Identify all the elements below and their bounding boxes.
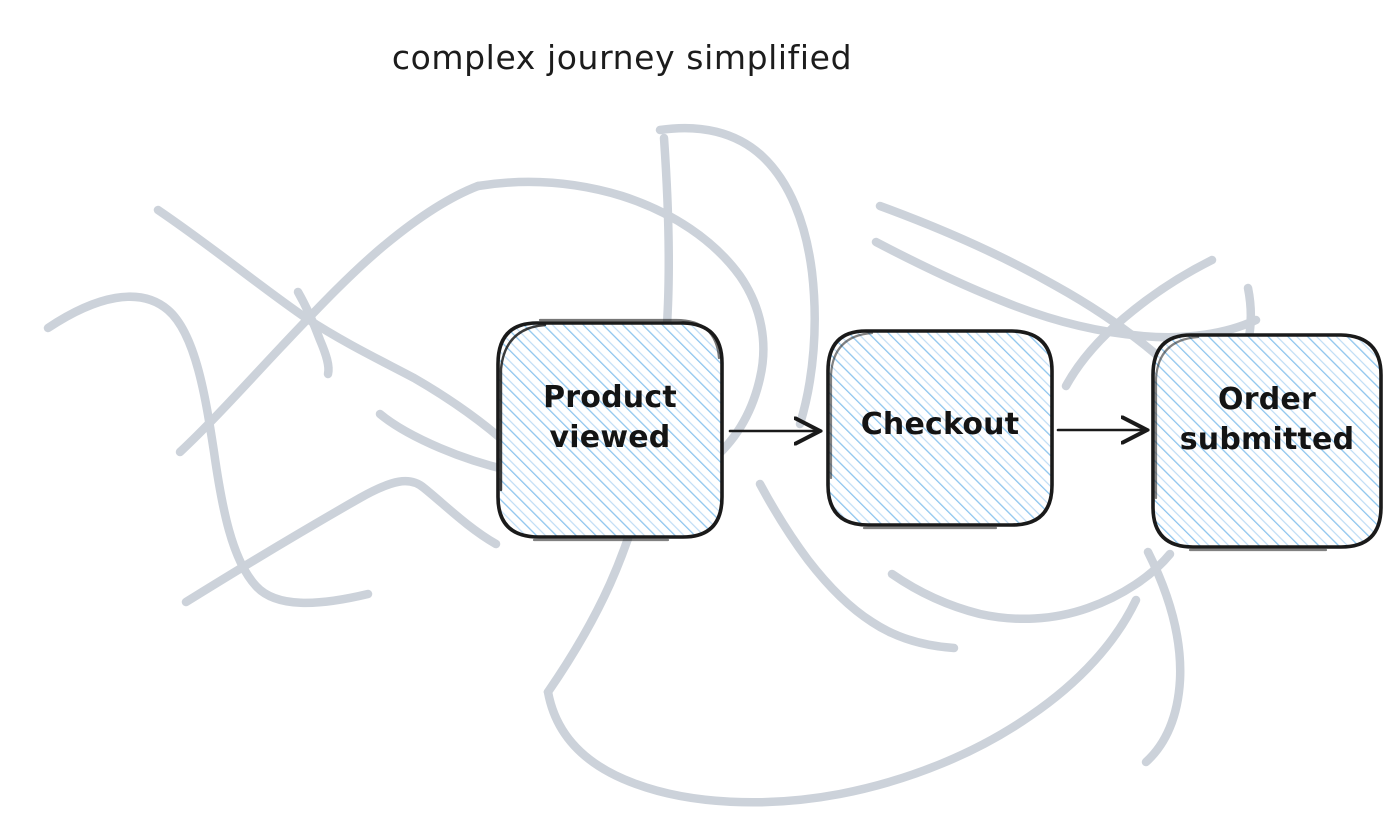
node-group [497,320,1382,550]
scribble-path [180,186,478,452]
node-fill [497,322,723,538]
node-fill [827,330,1053,526]
scribble-path [1146,552,1180,762]
node-product-viewed[interactable] [497,320,723,540]
diagram-canvas: complex journey simplified Product viewe… [0,0,1400,814]
scribble-path [548,600,1136,802]
node-checkout[interactable] [827,330,1053,528]
node-fill [1152,334,1382,548]
node-order-submitted[interactable] [1152,334,1382,550]
diagram-svg [0,0,1400,814]
